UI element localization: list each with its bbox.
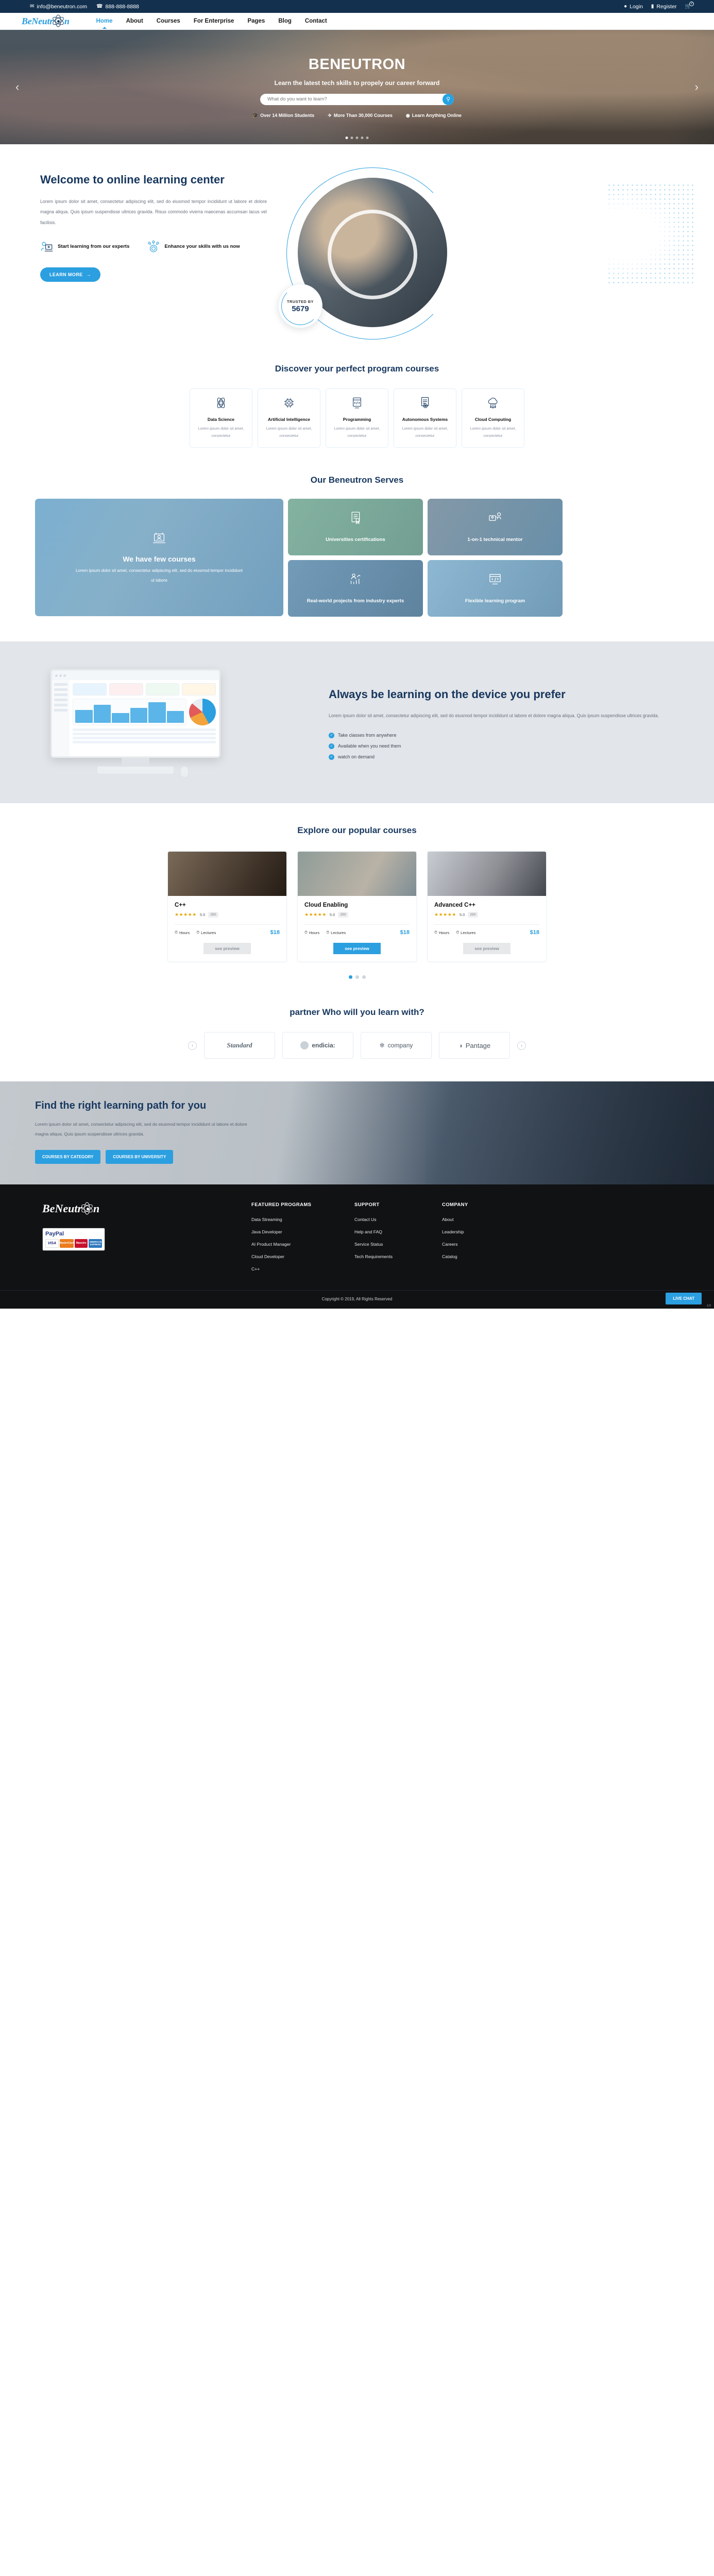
program-card-autonomous-systems[interactable]: Autonomous Systems Lorem ipsum dolor sit… — [394, 388, 456, 448]
hero-dot[interactable] — [351, 137, 353, 139]
trusted-badge-ring — [281, 287, 319, 325]
footer-heading: FEATURED PROGRAMS — [251, 1202, 354, 1208]
search-icon: ⚲ — [446, 96, 450, 103]
hero-dot[interactable] — [366, 137, 369, 139]
course-lectures: ⏱ Lectures — [456, 930, 475, 935]
hero-title: BENEUTRON — [309, 56, 405, 73]
hero-next-arrow[interactable]: › — [695, 80, 699, 94]
footer-link[interactable]: Careers — [442, 1242, 530, 1247]
course-lectures-label: Lectures — [461, 930, 475, 935]
nav-item-about[interactable]: About — [126, 18, 143, 24]
device-check-label: Available when you need them — [338, 743, 401, 749]
search-button[interactable]: ⚲ — [443, 94, 454, 105]
id-card-icon: ▮ — [651, 4, 654, 9]
live-chat-button[interactable]: LIVE CHAT — [666, 1293, 702, 1304]
globe-icon: ◉ — [406, 113, 410, 118]
footer-link[interactable]: AI Product Manager — [251, 1242, 354, 1247]
course-hours-label: Hours — [309, 930, 319, 935]
star-rating-icon: ★★★★★ — [304, 912, 327, 918]
program-name: Data Science — [194, 417, 248, 422]
program-desc: Lorem ipsum dolor sit amet, consectetur — [194, 425, 248, 439]
device-check-item: ✓ Available when you need them — [329, 743, 679, 749]
serves-section: Our Beneutron Serves We have few courses… — [0, 455, 714, 627]
hero-dot[interactable] — [346, 137, 348, 139]
program-card-list: Data Science Lorem ipsum dolor sit amet,… — [35, 388, 679, 448]
course-name: Cloud Enabling — [304, 902, 410, 908]
courses-dot[interactable] — [349, 975, 352, 979]
program-card-cloud-computing[interactable]: Cloud Computing Lorem ipsum dolor sit am… — [462, 388, 524, 448]
inner-ring-decoration — [328, 210, 417, 299]
monitor-screen — [50, 669, 220, 758]
serves-tile-title: Real-world projects from industry expert… — [307, 596, 404, 606]
amex-card-icon: AMERICAN EXPRESS — [89, 1239, 102, 1248]
partner-logo-text: Standard — [227, 1041, 252, 1049]
envelope-icon: ✉ — [30, 4, 34, 9]
course-hours: ⏱ Hours — [434, 930, 449, 935]
footer-logo[interactable]: BeNeutr n — [42, 1202, 251, 1215]
atom-icon — [52, 14, 65, 28]
nav-links: Home About Courses For Enterprise Pages … — [96, 18, 327, 24]
footer-link[interactable]: Contact Us — [354, 1217, 442, 1222]
footer-link[interactable]: Leadership — [442, 1229, 530, 1234]
welcome-section: Welcome to online learning center Lorem … — [0, 144, 714, 363]
certificate-icon — [347, 510, 364, 530]
course-lectures-label: Lectures — [201, 930, 216, 935]
program-card-artificial-intelligence[interactable]: Artificial Intelligence Lorem ipsum dolo… — [258, 388, 320, 448]
nav-item-home[interactable]: Home — [96, 18, 113, 24]
footer-heading: COMPANY — [442, 1202, 530, 1208]
partners-section: partner Who will you learn with? ‹ Stand… — [0, 989, 714, 1081]
serves-tile-title: We have few courses — [123, 555, 195, 563]
email-link[interactable]: ✉ info@beneutron.com — [30, 4, 87, 10]
course-card[interactable]: Advanced C++ ★★★★★ 5.0 250 ⏱ Hours ⏱ — [427, 851, 547, 962]
mastercard-card-icon: MasterCard — [60, 1239, 74, 1248]
course-hours-label: Hours — [179, 930, 190, 935]
footer-heading: SUPPORT — [354, 1202, 442, 1208]
partners-title: partner Who will you learn with? — [35, 1007, 679, 1019]
footer-bottom-bar: Copyright © 2019, All Rights Reserved LI… — [0, 1290, 714, 1309]
clock-icon: ⏱ — [196, 930, 199, 935]
clock-icon: ⏱ — [456, 930, 459, 935]
nav-item-blog[interactable]: Blog — [278, 18, 292, 24]
dashboard-donut-chart — [189, 699, 216, 725]
footer-logo-text: BeNeutr — [42, 1202, 82, 1215]
footer-link[interactable]: Tech Requirements — [354, 1254, 442, 1259]
serves-tile-title: Universities certifications — [326, 535, 385, 545]
cart-count-badge: 2 — [689, 2, 694, 6]
course-rating-row: ★★★★★ 5.0 250 — [434, 912, 539, 918]
cta-title: Find the right learning path for you — [35, 1099, 257, 1112]
course-rating-row: ★★★★★ 5.0 250 — [175, 912, 280, 918]
see-preview-button[interactable]: see preview — [463, 943, 511, 954]
atom-molecule-icon — [214, 403, 228, 412]
serves-tile-main[interactable]: We have few courses Lorem ipsum dolor si… — [35, 499, 283, 616]
chip-icon — [282, 403, 296, 412]
search-input[interactable] — [267, 96, 443, 102]
course-rating-value: 5.0 — [200, 912, 205, 917]
course-card-list: C++ ★★★★★ 5.0 250 ⏱ Hours ⏱ — [35, 851, 679, 962]
partner-logo-text: company — [388, 1042, 413, 1049]
visa-card-icon: VISA — [45, 1239, 59, 1248]
atom-icon — [81, 1202, 94, 1215]
nav-item-courses[interactable]: Courses — [157, 18, 180, 24]
cloud-icon — [486, 403, 500, 412]
device-check-label: watch on demand — [338, 754, 375, 759]
analytics-person-icon — [347, 571, 364, 591]
course-hours: ⏱ Hours — [175, 930, 190, 935]
course-name: C++ — [175, 902, 280, 908]
footer-link[interactable]: Java Developer — [251, 1229, 354, 1234]
course-hours: ⏱ Hours — [304, 930, 319, 935]
welcome-feature-row: Start learning from our experts Enhance … — [40, 241, 267, 254]
payment-methods: PayPal VISA MasterCard Maestro AMERICAN … — [42, 1228, 105, 1251]
footer-brand-column: BeNeutr n PayPal VISA MasterCard Maestro… — [35, 1202, 251, 1279]
footer-link[interactable]: Help and FAQ — [354, 1229, 442, 1234]
program-name: Autonomous Systems — [398, 417, 452, 422]
rocket-icon: ✈ — [328, 113, 332, 118]
courses-title: Explore our popular courses — [35, 825, 679, 837]
hero-feature-label: Over 14 Million Students — [260, 113, 314, 118]
top-utility-bar: ✉ info@beneutron.com ☎ 888-888-8888 ● Lo… — [0, 0, 714, 13]
register-label: Register — [656, 4, 676, 10]
popular-courses-section: Explore our popular courses C++ ★★★★★ 5.… — [0, 803, 714, 989]
course-rating-count: 250 — [208, 912, 218, 918]
cart-button[interactable]: 🛒 2 — [685, 4, 693, 9]
nav-item-for-enterprise[interactable]: For Enterprise — [194, 18, 234, 24]
hero-carousel: ‹ › BENEUTRON Learn the latest tech skil… — [0, 30, 714, 144]
program-card-programming[interactable]: Programming Lorem ipsum dolor sit amet, … — [326, 388, 388, 448]
star-rating-icon: ★★★★★ — [175, 912, 197, 918]
dashboard-sidebar — [52, 680, 70, 758]
serves-tile-mentor[interactable]: 1-on-1 technical mentor — [428, 499, 563, 555]
partners-next-arrow[interactable]: › — [517, 1041, 526, 1050]
course-rating-value: 5.0 — [330, 912, 335, 917]
hero-feature-label: Learn Anything Online — [412, 113, 462, 118]
device-check-list: ✓ Take classes from anywhere ✓ Available… — [329, 733, 679, 760]
code-monitor-icon — [486, 571, 504, 591]
maestro-card-icon: Maestro — [75, 1239, 88, 1248]
welcome-feature-label: Enhance your skills with us now — [164, 243, 240, 251]
login-label: Login — [630, 4, 643, 10]
device-illustration — [35, 664, 324, 783]
monitor-mockup — [50, 669, 220, 772]
person-at-computer-icon — [40, 241, 54, 254]
course-rating-count: 250 — [468, 912, 478, 918]
footer-column-support: SUPPORT Contact Us Help and FAQ Service … — [354, 1202, 442, 1279]
nav-item-pages[interactable]: Pages — [247, 18, 265, 24]
footer-link[interactable]: About — [442, 1217, 530, 1222]
programs-title: Discover your perfect program courses — [35, 363, 679, 375]
device-check-label: Take classes from anywhere — [338, 733, 397, 738]
footer-link[interactable]: Service Status — [354, 1242, 442, 1247]
footer-column-company: COMPANY About Leadership Careers Catalog — [442, 1202, 530, 1279]
serves-tile-desc: Lorem ipsum dolor sit amet, consectetur … — [74, 566, 244, 586]
partner-logo-text: Pantage — [466, 1042, 490, 1049]
footer-link[interactable]: Data Streaming — [251, 1217, 354, 1222]
course-rating-row: ★★★★★ 5.0 250 — [304, 912, 410, 918]
course-lectures-label: Lectures — [331, 930, 346, 935]
course-thumbnail — [428, 852, 546, 896]
online-class-icon — [150, 530, 168, 550]
courses-pagination-dots[interactable] — [35, 975, 679, 979]
courses-by-university-button[interactable]: COURSES BY UNIVERSITY — [106, 1150, 173, 1164]
phone-icon: ☎ — [96, 4, 103, 9]
dashboard-main — [70, 680, 219, 758]
company-logo-icon: ✻ — [380, 1042, 385, 1049]
hero-dot[interactable] — [356, 137, 359, 139]
program-desc: Lorem ipsum dolor sit amet, consectetur — [330, 425, 384, 439]
page-number: 1/3 — [707, 1304, 711, 1308]
dashboard-titlebar — [52, 671, 219, 680]
course-thumbnail — [298, 852, 416, 896]
hero-subtitle: Learn the latest tech skills to propely … — [275, 79, 440, 87]
hero-prev-arrow[interactable]: ‹ — [15, 80, 19, 94]
partner-card-pantage[interactable]: ◑ Pantage — [439, 1032, 510, 1059]
endicia-logo-icon — [300, 1041, 309, 1049]
register-link[interactable]: ▮ Register — [651, 4, 677, 10]
device-paragraph: Lorem ipsum dolor sit amet, consectetur … — [329, 710, 679, 721]
course-card[interactable]: Cloud Enabling ★★★★★ 5.0 250 ⏱ Hours ⏱ — [297, 851, 417, 962]
course-card[interactable]: C++ ★★★★★ 5.0 250 ⏱ Hours ⏱ — [167, 851, 287, 962]
course-price: $18 — [400, 929, 410, 936]
clock-icon: ⏱ — [434, 930, 437, 935]
email-text: info@beneutron.com — [37, 4, 87, 10]
serves-tile-universities[interactable]: Universities certifications — [288, 499, 423, 555]
main-navigation: BeNeutr n Home About Courses For Enterpr… — [0, 13, 714, 30]
courses-dot[interactable] — [362, 975, 366, 979]
login-link[interactable]: ● Login — [624, 4, 643, 10]
programs-section: Discover your perfect program courses Da… — [35, 363, 679, 455]
hero-pagination-dots[interactable] — [346, 137, 369, 139]
phone-text: 888-888-8888 — [106, 4, 139, 10]
mouse-mockup — [180, 766, 189, 777]
gear-bulb-icon — [147, 241, 160, 254]
footer-link[interactable]: Catalog — [442, 1254, 530, 1259]
device-text-column: Always be learning on the device you pre… — [324, 687, 679, 760]
divider — [434, 924, 539, 925]
program-name: Cloud Computing — [466, 417, 520, 422]
partners-prev-arrow[interactable]: ‹ — [188, 1041, 197, 1050]
dot-pattern-decoration — [607, 183, 694, 286]
dashboard-bar-chart — [73, 699, 186, 725]
paypal-logo: PayPal — [45, 1231, 102, 1237]
serves-tile-grid: We have few courses Lorem ipsum dolor si… — [35, 499, 679, 617]
clock-icon: ⏱ — [304, 930, 308, 935]
hero-feature: ✈ More Than 30,000 Courses — [328, 113, 393, 118]
program-name: Artificial Intelligence — [262, 417, 316, 422]
cta-paragraph: Lorem ipsum dolor sit amet, consectetur … — [35, 1120, 257, 1140]
welcome-image-column: TRUSTED BY 5679 — [267, 173, 679, 343]
nav-item-contact[interactable]: Contact — [305, 18, 327, 24]
trusted-by-badge: TRUSTED BY 5679 — [278, 284, 322, 328]
footer-link[interactable]: C++ — [251, 1266, 354, 1272]
logo-text: BeNeutr — [22, 16, 53, 27]
serves-tile-projects[interactable]: Real-world projects from industry expert… — [288, 560, 423, 617]
learn-more-label: LEARN MORE — [49, 272, 83, 277]
program-name: Programming — [330, 417, 384, 422]
copyright-text: Copyright © 2019, All Rights Reserved — [322, 1297, 393, 1301]
device-section: Always be learning on the device you pre… — [0, 641, 714, 803]
star-rating-icon: ★★★★★ — [434, 912, 456, 918]
course-lectures: ⏱ Lectures — [196, 930, 216, 935]
code-window-icon — [350, 403, 364, 412]
footer-column-featured-programs: FEATURED PROGRAMS Data Streaming Java De… — [251, 1202, 354, 1279]
pantage-logo-icon: ◑ — [458, 1042, 463, 1049]
topbar-contact-group: ✉ info@beneutron.com ☎ 888-888-8888 — [30, 4, 139, 10]
welcome-feature-skills: Enhance your skills with us now — [147, 241, 240, 254]
topbar-account-group: ● Login ▮ Register 🛒 2 — [624, 4, 693, 10]
hero-feature: 🎓 Over 14 Million Students — [252, 113, 314, 118]
device-check-item: ✓ watch on demand — [329, 754, 679, 760]
welcome-feature-label: Start learning from our experts — [58, 243, 129, 251]
site-footer: BeNeutr n PayPal VISA MasterCard Maestro… — [0, 1184, 714, 1309]
welcome-feature-experts: Start learning from our experts — [40, 241, 129, 254]
divider — [175, 924, 280, 925]
program-desc: Lorem ipsum dolor sit amet, consectetur — [398, 425, 452, 439]
divider — [304, 924, 410, 925]
welcome-title: Welcome to online learning center — [40, 173, 267, 187]
course-hours-label: Hours — [439, 930, 449, 935]
course-price: $18 — [530, 929, 539, 936]
program-desc: Lorem ipsum dolor sit amet, consectetur — [466, 425, 520, 439]
partner-card-standard[interactable]: Standard — [204, 1032, 275, 1059]
course-price: $18 — [270, 929, 280, 936]
serves-tile-title: 1-on-1 technical mentor — [467, 535, 522, 545]
serves-title: Our Beneutron Serves — [35, 474, 679, 486]
program-card-data-science[interactable]: Data Science Lorem ipsum dolor sit amet,… — [190, 388, 252, 448]
user-icon: ● — [624, 4, 627, 9]
clock-icon: ⏱ — [175, 930, 178, 935]
check-circle-icon: ✓ — [329, 754, 334, 760]
check-circle-icon: ✓ — [329, 743, 334, 749]
hero-feature-list: 🎓 Over 14 Million Students ✈ More Than 3… — [252, 113, 462, 118]
footer-link[interactable]: Cloud Developer — [251, 1254, 354, 1259]
clock-icon: ⏱ — [326, 930, 329, 935]
welcome-paragraph: Lorem ipsum dolor sit amet, consectetur … — [40, 196, 267, 228]
serves-tile-flexible[interactable]: Flexible learning program — [428, 560, 563, 617]
program-desc: Lorem ipsum dolor sit amet, consectetur — [262, 425, 316, 439]
arrow-right-icon: → — [87, 272, 91, 277]
see-preview-button[interactable]: see preview — [203, 943, 251, 954]
check-circle-icon: ✓ — [329, 733, 334, 738]
cta-section: Find the right learning path for you Lor… — [0, 1081, 714, 1184]
course-lectures: ⏱ Lectures — [326, 930, 346, 935]
welcome-text-column: Welcome to online learning center Lorem … — [35, 173, 267, 343]
partner-carousel: ‹ Standard endicia: ✻ company ◑ Pantage … — [35, 1032, 679, 1059]
graduation-cap-icon: 🎓 — [252, 113, 258, 118]
serves-tile-title: Flexible learning program — [465, 596, 525, 606]
document-gear-icon — [418, 403, 432, 412]
keyboard-mockup — [97, 766, 174, 774]
course-thumbnail — [168, 852, 286, 896]
site-logo[interactable]: BeNeutr n — [22, 14, 70, 28]
device-title: Always be learning on the device you pre… — [329, 687, 679, 702]
partner-logo-text: endicia: — [312, 1042, 335, 1049]
partner-card-company[interactable]: ✻ company — [361, 1032, 432, 1059]
hero-search-box: ⚲ — [260, 94, 454, 105]
courses-dot[interactable] — [355, 975, 359, 979]
courses-by-category-button[interactable]: COURSES BY CATEGORY — [35, 1150, 100, 1164]
learn-more-button[interactable]: LEARN MORE → — [40, 267, 100, 282]
see-preview-button[interactable]: see preview — [333, 943, 381, 954]
course-rating-count: 250 — [338, 912, 348, 918]
partner-card-endicia[interactable]: endicia: — [282, 1032, 353, 1059]
hero-feature: ◉ Learn Anything Online — [406, 113, 462, 118]
hero-dot[interactable] — [361, 137, 364, 139]
hero-feature-label: More Than 30,000 Courses — [334, 113, 393, 118]
mentor-icon — [486, 510, 504, 530]
course-name: Advanced C++ — [434, 902, 539, 908]
course-rating-value: 5.0 — [460, 912, 465, 917]
phone-link[interactable]: ☎ 888-888-8888 — [96, 4, 139, 10]
device-check-item: ✓ Take classes from anywhere — [329, 733, 679, 738]
